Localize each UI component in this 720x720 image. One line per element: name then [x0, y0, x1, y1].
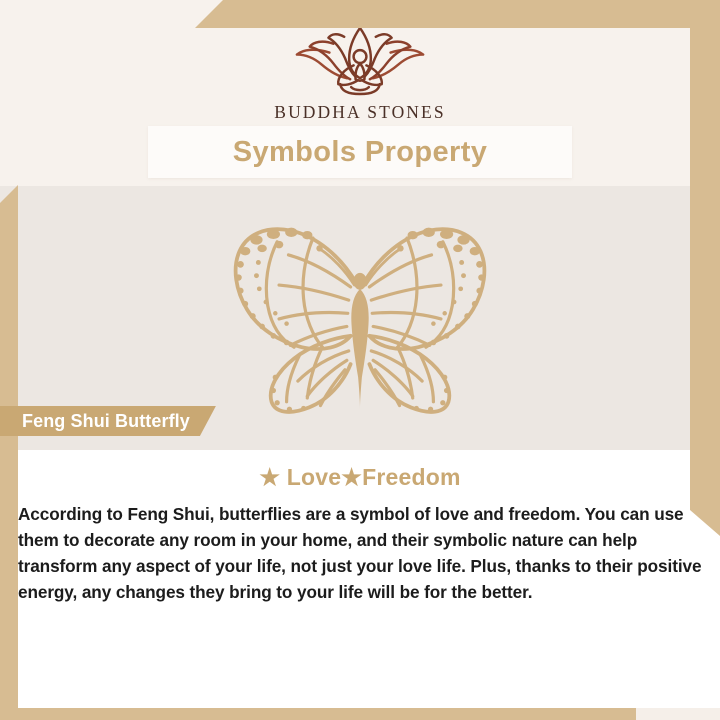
- brand-name: BUDDHA STONES: [274, 102, 445, 123]
- feng-shui-tag: Feng Shui Butterfly: [0, 406, 216, 436]
- butterfly-icon: [200, 218, 520, 418]
- frame-bottom-fade: [636, 708, 720, 720]
- title-banner: Symbols Property: [148, 126, 572, 178]
- feng-shui-tag-label: Feng Shui Butterfly: [22, 411, 190, 432]
- page-title: Symbols Property: [233, 136, 488, 169]
- content-paragraph: According to Feng Shui, butterflies are …: [18, 501, 702, 606]
- brand-logo: BUDDHA STONES: [0, 22, 720, 123]
- frame-top-bar: [195, 0, 720, 28]
- frame-bottom-bar: [0, 708, 720, 720]
- poster-root: BUDDHA STONES Symbols Property: [0, 0, 720, 720]
- content-section: ★ Love★Freedom According to Feng Shui, b…: [0, 450, 720, 720]
- frame-right-bar: [690, 0, 720, 536]
- content-subheading: ★ Love★Freedom: [0, 464, 720, 491]
- lotus-meditation-icon: [285, 22, 435, 96]
- frame-left-bar: [0, 185, 18, 720]
